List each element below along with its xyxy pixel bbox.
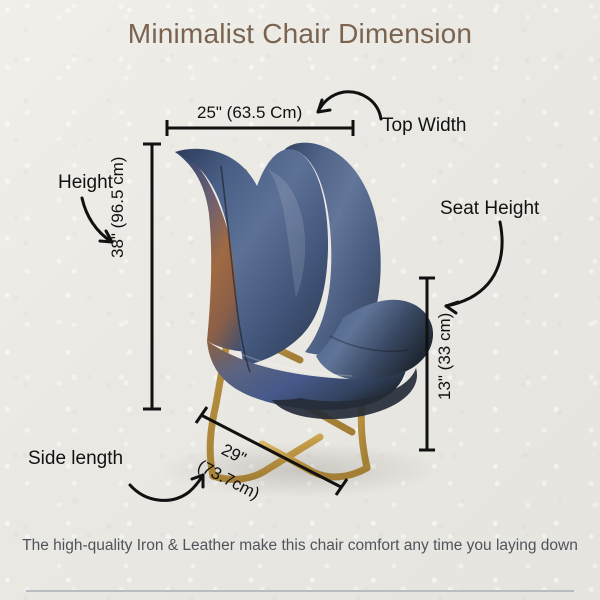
dimension-value-seat-height: 13" (33 cm) — [435, 313, 455, 400]
footer-divider — [26, 590, 574, 592]
dimension-line-height — [143, 144, 161, 409]
dimension-line-seat-height — [419, 278, 435, 450]
dimension-label-top-width: Top Width — [382, 115, 466, 137]
dimension-value-top-width: 25" (63.5 Cm) — [197, 103, 302, 123]
chair-dimension-infographic: Minimalist Chair Dimension — [0, 0, 600, 600]
footer-description: The high-quality Iron & Leather make thi… — [20, 534, 580, 557]
arrow-top-width — [318, 92, 381, 119]
arrow-side-length — [130, 475, 203, 500]
leather-back-panel — [175, 149, 328, 366]
dimension-label-side-length: Side length — [28, 448, 123, 470]
chair-leather — [175, 143, 433, 419]
dimension-label-seat-height: Seat Height — [440, 198, 539, 220]
arrow-seat-height — [446, 222, 502, 313]
illustration-layer — [0, 0, 600, 600]
dimension-label-height: Height — [58, 172, 113, 194]
